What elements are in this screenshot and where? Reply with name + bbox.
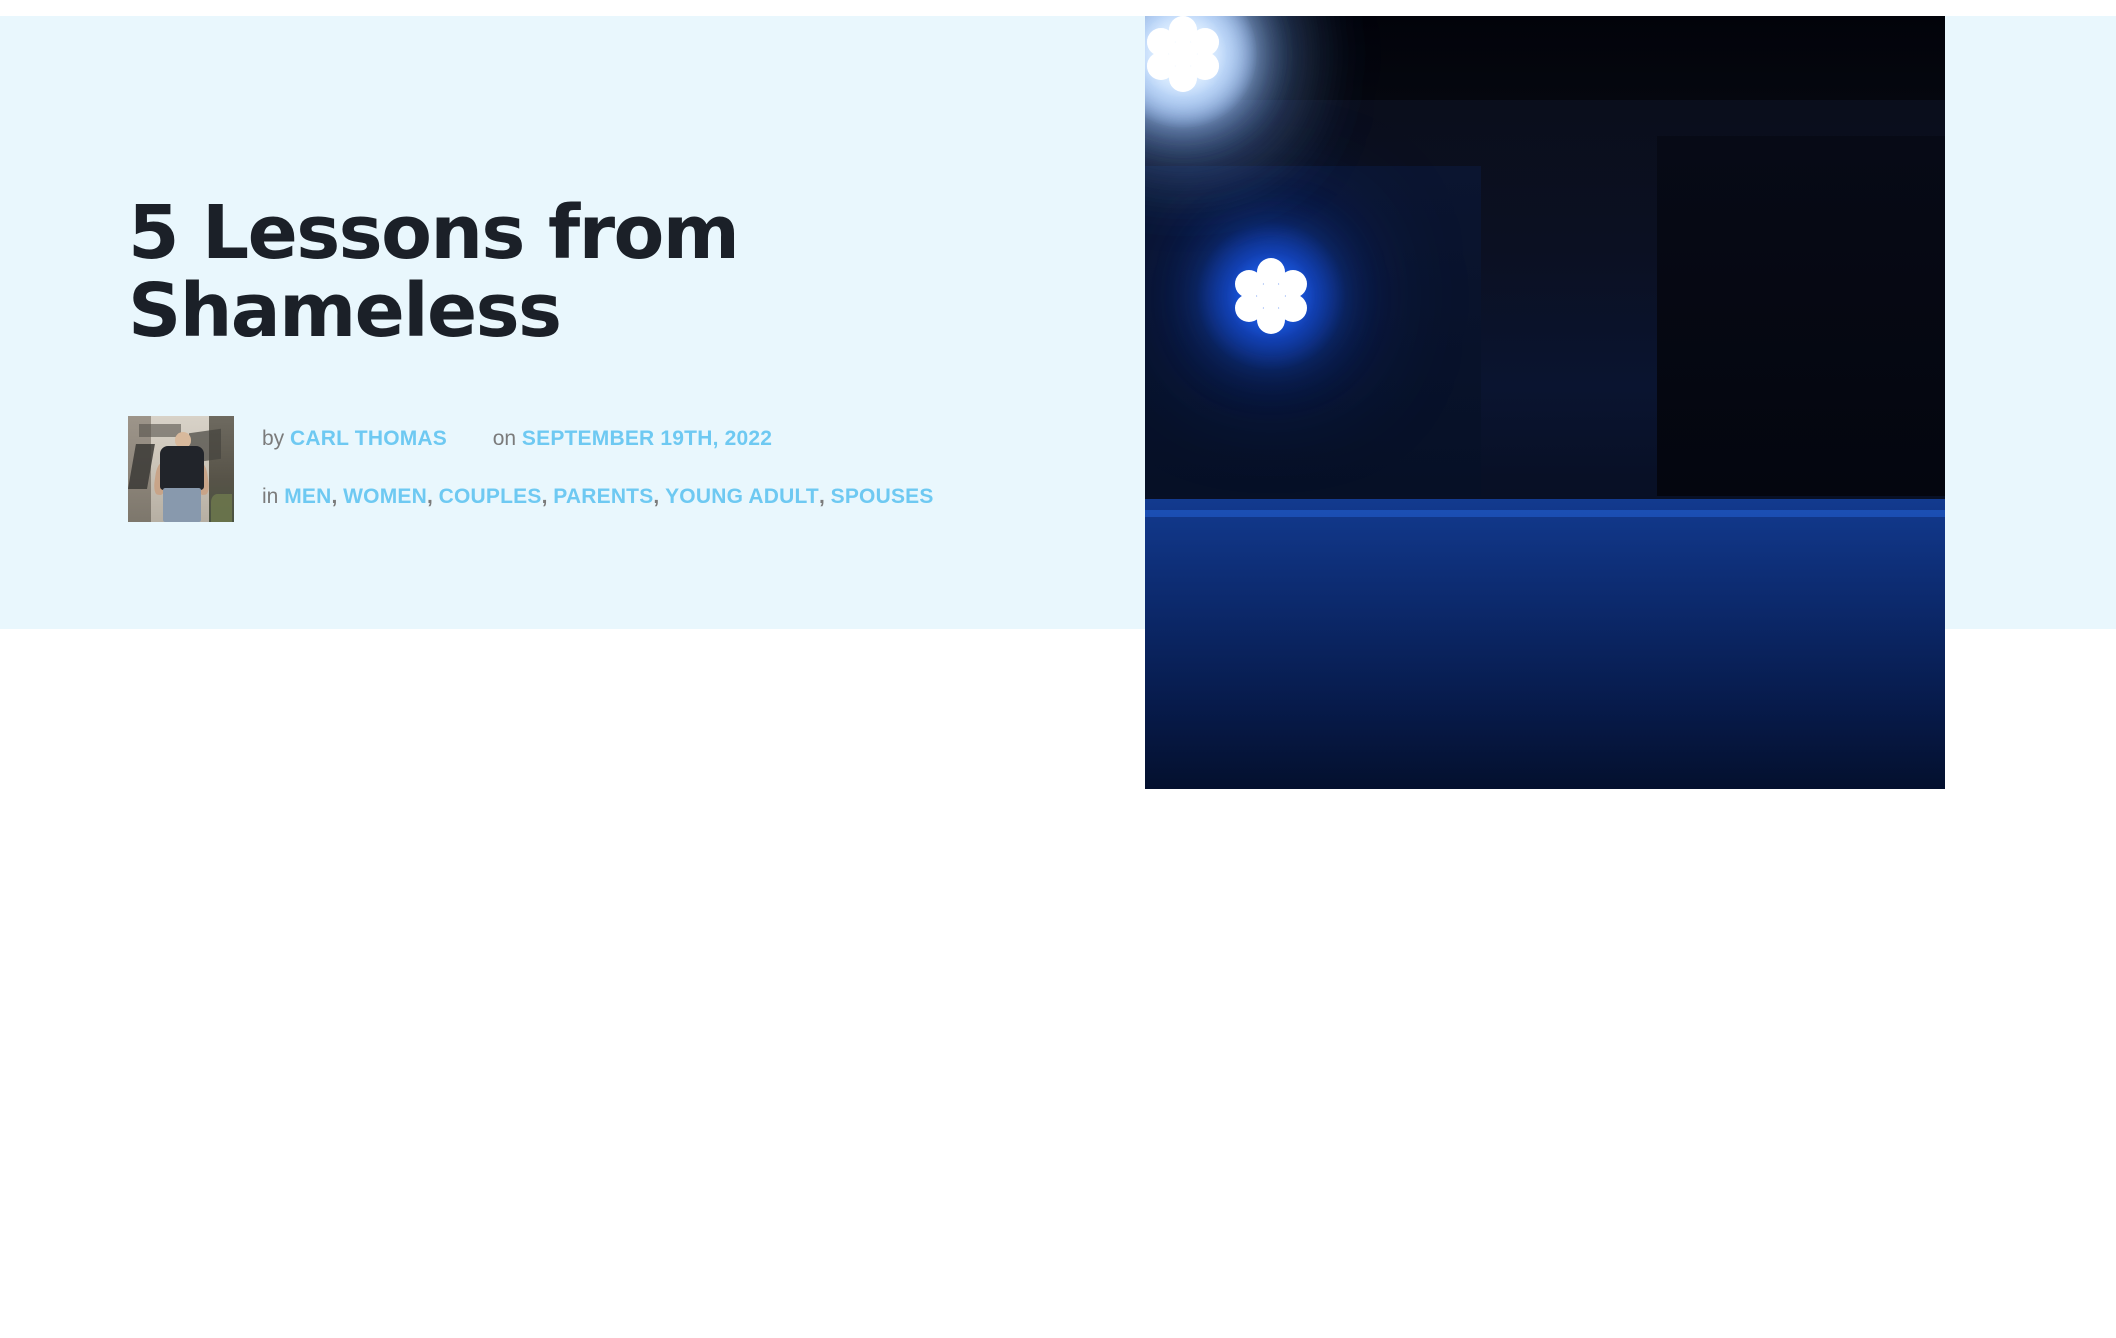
- byline-lines: by CARL THOMAS on SEPTEMBER 19TH, 2022 i…: [262, 416, 934, 507]
- category-separator: ,: [653, 485, 665, 508]
- stage-riser: [1145, 499, 1945, 789]
- category-link-women[interactable]: WOMEN: [343, 485, 427, 508]
- category-link-men[interactable]: MEN: [284, 485, 331, 508]
- by-label: by: [262, 427, 284, 450]
- category-link-couples[interactable]: COUPLES: [439, 485, 542, 508]
- stage-riser-edge: [1145, 510, 1945, 517]
- hero-image: [1145, 16, 1945, 789]
- stage-panel-right: [1657, 136, 1945, 496]
- page-title: 5 Lessons from Shameless: [128, 194, 1028, 351]
- category-link-spouses[interactable]: SPOUSES: [831, 485, 934, 508]
- category-separator: ,: [331, 485, 343, 508]
- category-separator: ,: [542, 485, 554, 508]
- category-link-parents[interactable]: PARENTS: [553, 485, 653, 508]
- category-link-young-adult[interactable]: YOUNG ADULT: [665, 485, 819, 508]
- in-label: in: [262, 485, 278, 508]
- hero-text-column: 5 Lessons from Shameless by CARL THOMAS …: [128, 16, 1108, 629]
- byline-categories-row: in MEN, WOMEN, COUPLES, PARENTS, YOUNG A…: [262, 486, 934, 507]
- byline: by CARL THOMAS on SEPTEMBER 19TH, 2022 i…: [128, 416, 934, 522]
- stage-ceiling: [1145, 16, 1945, 100]
- avatar: [128, 416, 234, 522]
- on-label: on: [493, 427, 516, 450]
- stage-light-white-lower: [1145, 16, 1221, 92]
- category-separator: ,: [427, 485, 439, 508]
- category-separator: ,: [819, 485, 831, 508]
- byline-author-row: by CARL THOMAS on SEPTEMBER 19TH, 2022: [262, 428, 934, 449]
- stage-light-blue-upper: [1233, 258, 1309, 334]
- author-link[interactable]: CARL THOMAS: [290, 427, 447, 450]
- date-link[interactable]: SEPTEMBER 19TH, 2022: [522, 427, 772, 450]
- category-link-list: MEN, WOMEN, COUPLES, PARENTS, YOUNG ADUL…: [284, 485, 933, 508]
